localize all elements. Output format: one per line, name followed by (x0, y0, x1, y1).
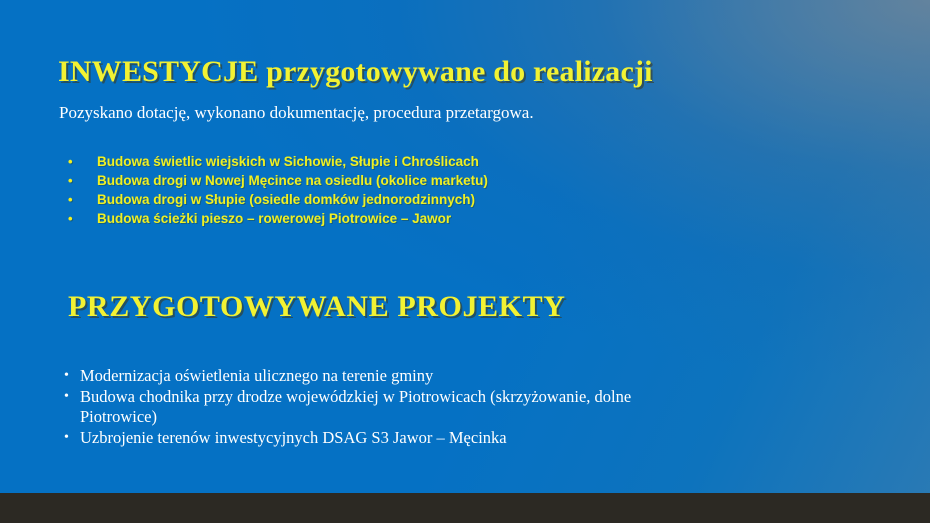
slide-subtitle: Pozyskano dotację, wykonano dokumentację… (59, 103, 534, 123)
bullet-icon: • (64, 387, 80, 407)
bullet-icon: • (68, 210, 97, 228)
list-item: • Budowa drogi w Słupie (osiedle domków … (68, 191, 668, 209)
list-item: • Budowa ścieżki pieszo – rowerowej Piot… (68, 210, 668, 228)
list-item: • Budowa świetlic wiejskich w Sichowie, … (68, 153, 668, 171)
investment-bullet-list: • Budowa świetlic wiejskich w Sichowie, … (68, 153, 668, 229)
planned-projects-list: • Modernizacja oświetlenia ulicznego na … (64, 366, 684, 449)
list-item: • Budowa chodnika przy drodze wojewódzki… (64, 387, 684, 427)
list-item: • Uzbrojenie terenów inwestycyjnych DSAG… (64, 428, 684, 448)
list-item-label: Budowa drogi w Słupie (osiedle domków je… (97, 191, 668, 209)
bullet-icon: • (64, 428, 80, 448)
bullet-icon: • (68, 172, 97, 190)
bullet-icon: • (68, 191, 97, 209)
section-heading-projects: PRZYGOTOWYWANE PROJEKTY (68, 290, 565, 324)
list-item-label: Budowa świetlic wiejskich w Sichowie, Sł… (97, 153, 668, 171)
list-item-label: Budowa drogi w Nowej Męcince na osiedlu … (97, 172, 668, 190)
list-item-label: Budowa chodnika przy drodze wojewódzkiej… (80, 387, 684, 427)
slide-footer-bar (0, 493, 930, 523)
list-item-label: Budowa ścieżki pieszo – rowerowej Piotro… (97, 210, 668, 228)
list-item: • Modernizacja oświetlenia ulicznego na … (64, 366, 684, 386)
bullet-icon: • (64, 366, 80, 386)
list-item: • Budowa drogi w Nowej Męcince na osiedl… (68, 172, 668, 190)
slide-title: INWESTYCJE przygotowywane do realizacji (58, 55, 653, 89)
bullet-icon: • (68, 153, 97, 171)
presentation-slide: INWESTYCJE przygotowywane do realizacji … (0, 0, 930, 523)
list-item-label: Modernizacja oświetlenia ulicznego na te… (80, 366, 684, 386)
slide-content: INWESTYCJE przygotowywane do realizacji … (0, 0, 930, 523)
list-item-label: Uzbrojenie terenów inwestycyjnych DSAG S… (80, 428, 684, 448)
